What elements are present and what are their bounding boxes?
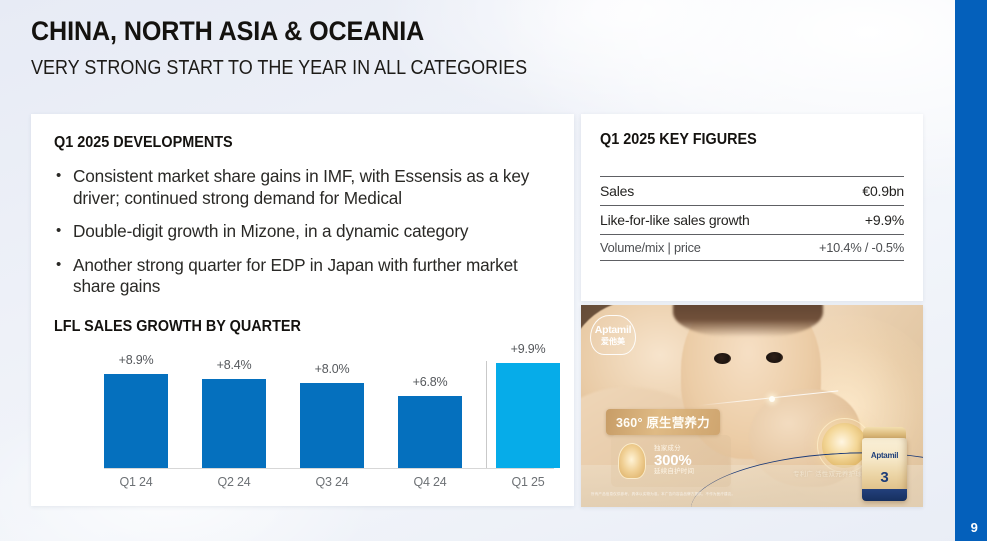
chart-axis-line	[104, 468, 554, 469]
key-figure-label: Like-for-like sales growth	[600, 206, 794, 235]
key-figure-value: €0.9bn	[794, 177, 904, 206]
ad-claim-text: 独家成分 300% 延续自护时间	[654, 446, 694, 475]
list-item: Double-digit growth in Mizone, in a dyna…	[51, 221, 556, 243]
key-figure-value: +10.4% / -0.5%	[794, 235, 904, 261]
bar-value-label: +8.9%	[104, 353, 168, 367]
bar-value-label: +6.8%	[398, 375, 462, 389]
bar-group-q2-24: +8.4%	[202, 347, 266, 468]
bar-q2-24	[202, 379, 266, 468]
baby-left-eye	[714, 353, 731, 364]
list-item: Consistent market share gains in IMF, wi…	[51, 166, 556, 209]
product-can-body: Aptamil 3	[862, 438, 907, 501]
key-figures-card: Q1 2025 KEY FIGURES Sales €0.9bn Like-fo…	[581, 114, 923, 301]
ad-artwork: 专利广 活性双元养护球 Aptamil 爱他美 360° 原生营养力 独家成分 …	[581, 305, 923, 507]
page-number: 9	[971, 520, 978, 535]
ad-fineprint: 所有产品信息仅供参考，具体以实物为准。本广告内容由品牌方提供，不作为医疗建议。	[591, 492, 761, 497]
ad-claim-panel: 独家成分 300% 延续自护时间	[611, 435, 731, 487]
bar-q4-24	[398, 396, 462, 468]
bar-group-q1-25: +9.9%	[496, 347, 560, 468]
product-can-band	[862, 489, 907, 501]
key-figure-label: Sales	[600, 177, 794, 206]
product-can-brand: Aptamil	[862, 451, 907, 460]
baby-right-eye	[766, 352, 783, 363]
product-can-stage: 3	[862, 469, 907, 486]
bar-value-label: +8.4%	[202, 358, 266, 372]
bar-q1-24	[104, 374, 168, 468]
product-can: Aptamil 3	[862, 427, 907, 501]
x-tick-q4-24: Q4 24	[398, 475, 462, 489]
bar-group-q4-24: +6.8%	[398, 347, 462, 468]
aptamil-advertisement-image: 专利广 活性双元养护球 Aptamil 爱他美 360° 原生营养力 独家成分 …	[581, 305, 923, 507]
table-row: Sales €0.9bn	[600, 177, 904, 206]
lfl-sales-growth-bar-chart: +8.9% +8.4% +8.0% +6.8% +9.9%	[54, 347, 554, 492]
list-item: Another strong quarter for EDP in Japan …	[51, 255, 556, 298]
x-tick-q1-25: Q1 25	[496, 475, 560, 489]
aptamil-logo-wordmark: Aptamil	[595, 325, 631, 336]
bar-value-label: +8.0%	[300, 362, 364, 376]
developments-card: Q1 2025 DEVELOPMENTS Consistent market s…	[31, 114, 574, 506]
capsule-icon	[618, 443, 646, 479]
chart-plot-area: +8.9% +8.4% +8.0% +6.8% +9.9%	[54, 347, 554, 468]
table-row: Volume/mix | price +10.4% / -0.5%	[600, 235, 904, 261]
bar-group-q3-24: +8.0%	[300, 347, 364, 468]
x-tick-q3-24: Q3 24	[300, 475, 364, 489]
ad-claim-value: 300%	[654, 453, 694, 469]
slide: CHINA, NORTH ASIA & OCEANIA VERY STRONG …	[0, 0, 987, 541]
bar-group-q1-24: +8.9%	[104, 347, 168, 468]
developments-heading: Q1 2025 DEVELOPMENTS	[54, 134, 233, 152]
page-title: CHINA, NORTH ASIA & OCEANIA	[31, 16, 424, 47]
bar-value-label: +9.9%	[496, 342, 560, 356]
developments-bullet-list: Consistent market share gains in IMF, wi…	[51, 166, 556, 310]
key-figure-label: Volume/mix | price	[600, 235, 794, 261]
aptamil-logo-chinese: 爱他美	[601, 337, 625, 346]
table-row: Like-for-like sales growth +9.9%	[600, 206, 904, 235]
ad-claim-bottom-label: 延续自护时间	[654, 469, 694, 476]
key-figure-value: +9.9%	[794, 206, 904, 235]
x-tick-q2-24: Q2 24	[202, 475, 266, 489]
x-tick-q1-24: Q1 24	[104, 475, 168, 489]
slide-rail: 9	[955, 0, 987, 541]
chart-title: LFL SALES GROWTH BY QUARTER	[54, 318, 301, 336]
sparkle-dot-icon	[769, 396, 775, 402]
ad-banner-360: 360° 原生营养力	[606, 409, 720, 435]
aptamil-logo: Aptamil 爱他美	[590, 315, 636, 355]
bar-q1-25	[496, 363, 560, 468]
chart-period-divider	[486, 361, 487, 468]
bar-q3-24	[300, 383, 364, 468]
key-figures-heading: Q1 2025 KEY FIGURES	[600, 131, 757, 149]
page-subtitle: VERY STRONG START TO THE YEAR IN ALL CAT…	[31, 57, 527, 80]
key-figures-table: Sales €0.9bn Like-for-like sales growth …	[600, 176, 904, 261]
